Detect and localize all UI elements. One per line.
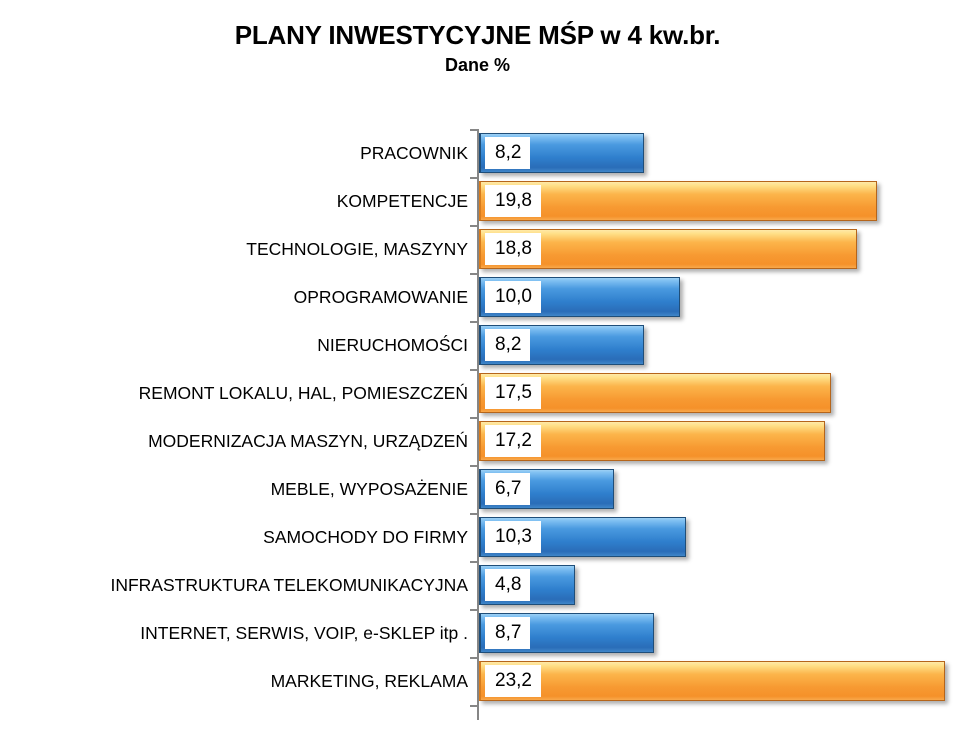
bar[interactable]: 17,2	[479, 421, 825, 461]
bar[interactable]: 8,2	[479, 325, 644, 365]
title-block: PLANY INWESTYCYJNE MŚP w 4 kw.br. Dane %	[0, 0, 955, 75]
bar-value-label: 17,2	[485, 425, 541, 457]
category-label: INFRASTRUKTURA TELEKOMUNIKACYJNA	[110, 561, 468, 609]
bar-value-label: 23,2	[485, 665, 541, 697]
bar-row: INTERNET, SERWIS, VOIP, e-SKLEP itp .8,7	[0, 609, 955, 657]
chart-subtitle: Dane %	[0, 56, 955, 75]
bar-value-label: 18,8	[485, 233, 541, 265]
category-label: NIERUCHOMOŚCI	[317, 321, 468, 369]
bar[interactable]: 18,8	[479, 229, 857, 269]
bar-fill	[479, 661, 945, 701]
bar-value-label: 8,7	[485, 617, 530, 649]
bar-row: TECHNOLOGIE, MASZYNY18,8	[0, 225, 955, 273]
bar-value-label: 8,2	[485, 329, 530, 361]
bar-row: INFRASTRUKTURA TELEKOMUNIKACYJNA4,8	[0, 561, 955, 609]
bar-value-label: 10,3	[485, 521, 541, 553]
bar-row: MEBLE, WYPOSAŻENIE6,7	[0, 465, 955, 513]
bar-value-label: 17,5	[485, 377, 541, 409]
category-label: OPROGRAMOWANIE	[294, 273, 468, 321]
category-label: PRACOWNIK	[360, 129, 468, 177]
page-title: PLANY INWESTYCYJNE MŚP w 4 kw.br.	[0, 22, 955, 49]
bar-value-label: 4,8	[485, 569, 530, 601]
bar[interactable]: 8,2	[479, 133, 644, 173]
bar[interactable]: 6,7	[479, 469, 614, 509]
bar-value-label: 6,7	[485, 473, 530, 505]
bar-value-label: 19,8	[485, 185, 541, 217]
category-label: TECHNOLOGIE, MASZYNY	[246, 225, 468, 273]
plot-area: PRACOWNIK8,2KOMPETENCJE19,8TECHNOLOGIE, …	[0, 129, 955, 729]
bar[interactable]: 19,8	[479, 181, 877, 221]
bar-row: NIERUCHOMOŚCI8,2	[0, 321, 955, 369]
bar-row: OPROGRAMOWANIE10,0	[0, 273, 955, 321]
bar[interactable]: 8,7	[479, 613, 654, 653]
category-label: MARKETING, REKLAMA	[271, 657, 468, 705]
bar[interactable]: 10,0	[479, 277, 680, 317]
category-label: MODERNIZACJA MASZYN, URZĄDZEŃ	[148, 417, 468, 465]
category-label: SAMOCHODY DO FIRMY	[263, 513, 468, 561]
category-label: KOMPETENCJE	[337, 177, 468, 225]
category-label: MEBLE, WYPOSAŻENIE	[271, 465, 468, 513]
category-label: REMONT LOKALU, HAL, POMIESZCZEŃ	[139, 369, 468, 417]
bar[interactable]: 17,5	[479, 373, 831, 413]
bar-row: KOMPETENCJE19,8	[0, 177, 955, 225]
bar[interactable]: 23,2	[479, 661, 945, 701]
axis-tick	[470, 705, 477, 707]
bar-row: MARKETING, REKLAMA23,2	[0, 657, 955, 705]
bar-value-label: 8,2	[485, 137, 530, 169]
bar-row: MODERNIZACJA MASZYN, URZĄDZEŃ17,2	[0, 417, 955, 465]
bar-row: REMONT LOKALU, HAL, POMIESZCZEŃ17,5	[0, 369, 955, 417]
bar-value-label: 10,0	[485, 281, 541, 313]
bar[interactable]: 10,3	[479, 517, 686, 557]
bar-row: PRACOWNIK8,2	[0, 129, 955, 177]
bar[interactable]: 4,8	[479, 565, 575, 605]
category-label: INTERNET, SERWIS, VOIP, e-SKLEP itp .	[140, 609, 468, 657]
chart-container: PLANY INWESTYCYJNE MŚP w 4 kw.br. Dane %…	[0, 0, 955, 736]
bar-row: SAMOCHODY DO FIRMY10,3	[0, 513, 955, 561]
